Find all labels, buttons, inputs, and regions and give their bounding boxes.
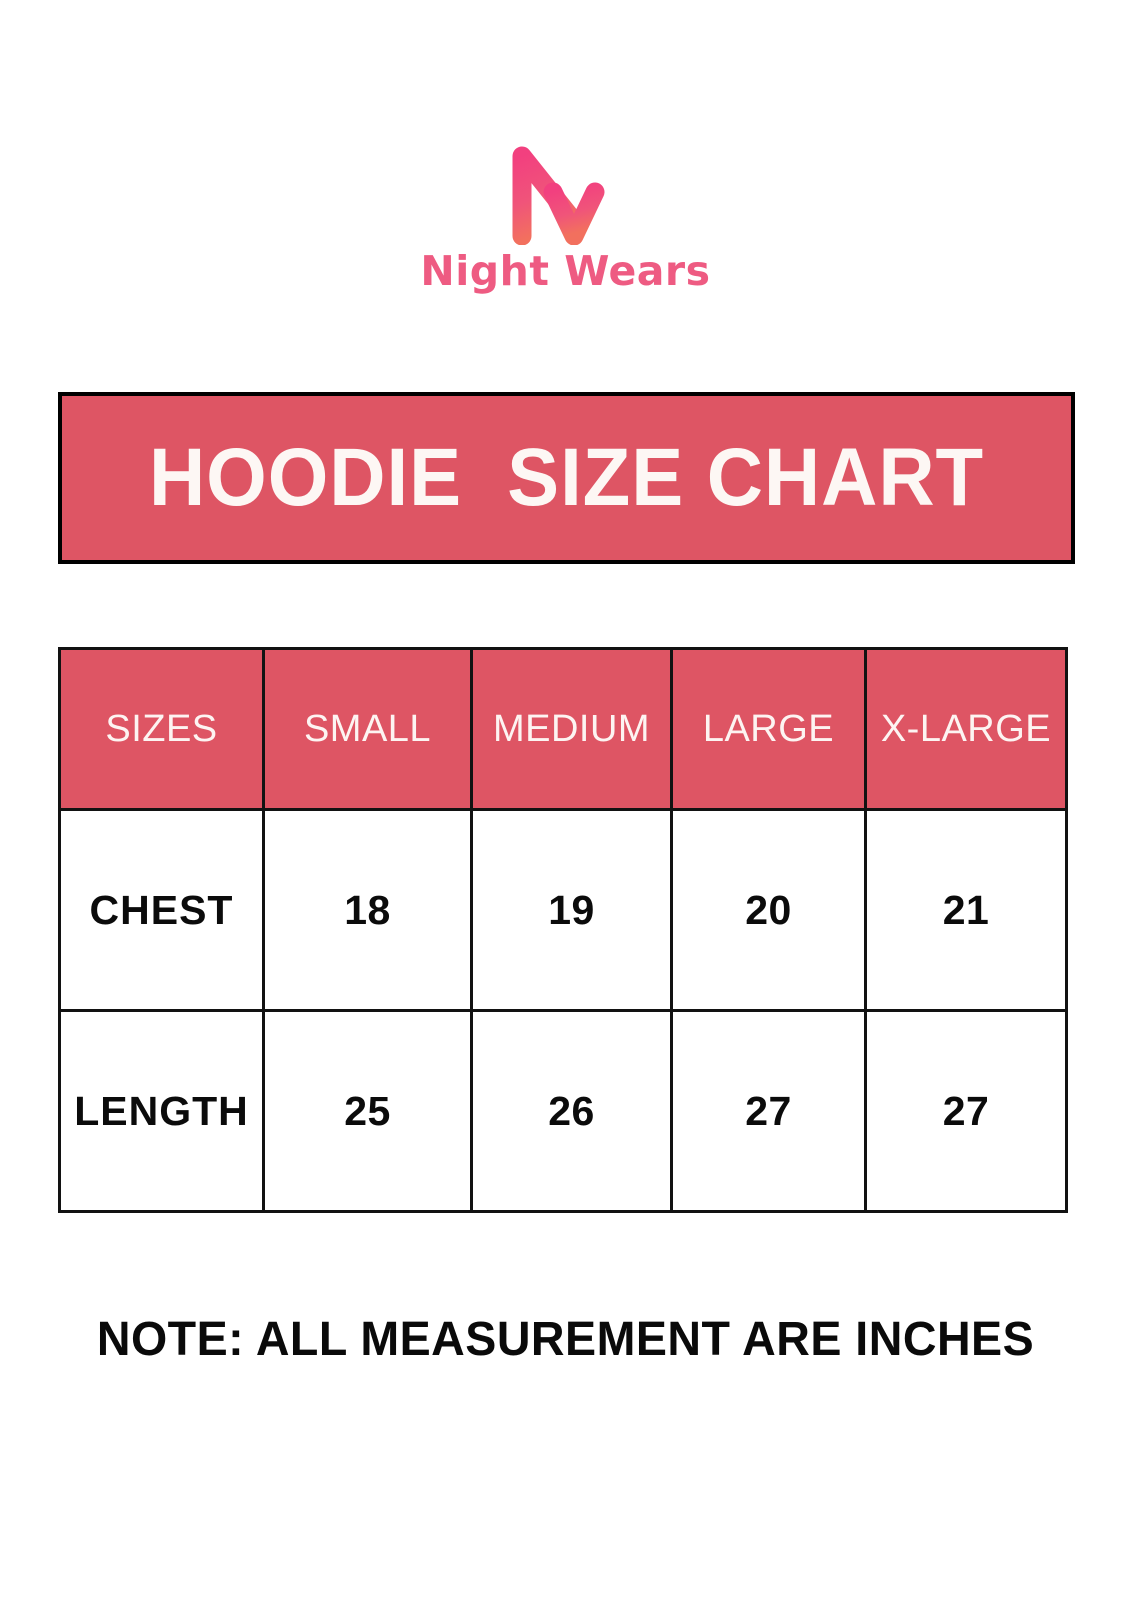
table-row: LENGTH 25 26 27 27 (60, 1011, 1067, 1212)
column-header-x-large: X-LARGE (866, 649, 1067, 810)
brand-name: Night Wears (0, 249, 1131, 294)
table-row: CHEST 18 19 20 21 (60, 810, 1067, 1011)
table-header-row: SIZES SMALL MEDIUM LARGE X-LARGE (60, 649, 1067, 810)
cell-chest-x-large: 21 (866, 810, 1067, 1011)
column-header-large: LARGE (672, 649, 866, 810)
cell-length-large: 27 (672, 1011, 866, 1212)
cell-length-x-large: 27 (866, 1011, 1067, 1212)
row-label-length: LENGTH (60, 1011, 264, 1212)
column-header-sizes: SIZES (60, 649, 264, 810)
size-chart-table: SIZES SMALL MEDIUM LARGE X-LARGE CHEST 1… (58, 647, 1068, 1213)
column-header-medium: MEDIUM (472, 649, 672, 810)
cell-chest-large: 20 (672, 810, 866, 1011)
brand-header: Night Wears (0, 140, 1131, 294)
nw-monogram-logo-icon (507, 140, 625, 245)
page-title: HOODIE SIZE CHART (149, 437, 984, 519)
cell-length-medium: 26 (472, 1011, 672, 1212)
cell-chest-medium: 19 (472, 810, 672, 1011)
title-banner: HOODIE SIZE CHART (58, 392, 1075, 564)
column-header-small: SMALL (264, 649, 472, 810)
cell-chest-small: 18 (264, 810, 472, 1011)
row-label-chest: CHEST (60, 810, 264, 1011)
cell-length-small: 25 (264, 1011, 472, 1212)
measurement-note: NOTE: ALL MEASUREMENT ARE INCHES (17, 1312, 1114, 1367)
